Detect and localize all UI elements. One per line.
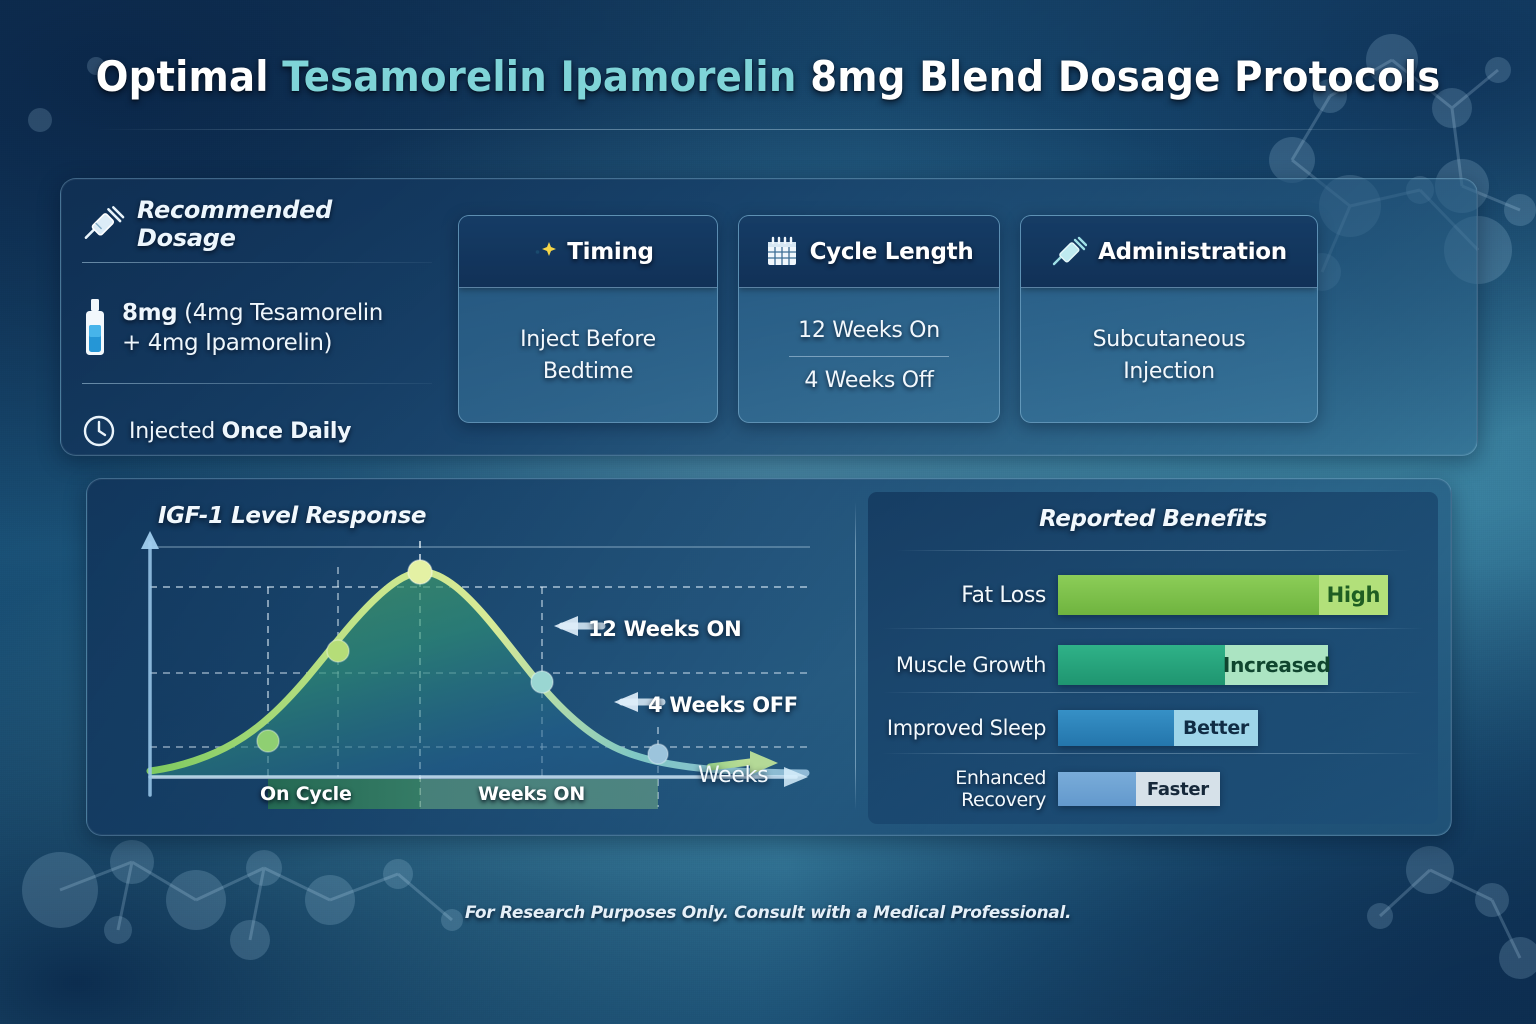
- card-administration-header: Administration: [1021, 216, 1317, 288]
- card-cycle-length-header: Cycle Length: [739, 216, 999, 288]
- syringe-icon: [82, 205, 125, 243]
- syringe-icon: [1051, 236, 1087, 268]
- data-point-marker: [648, 744, 668, 764]
- benefit-value-fat-loss: High: [1319, 575, 1388, 615]
- dosage-frequency-text: Injected Once Daily: [129, 419, 351, 444]
- benefit-bar-enhanced-recovery: Faster: [1058, 772, 1220, 806]
- recommended-dosage-block: Recommended Dosage 8mg (4mg Tesamorelin …: [82, 196, 432, 448]
- benefit-bar-fill: [1058, 710, 1174, 746]
- benefit-bar-fill: [1058, 772, 1136, 806]
- chart-annotation-weeks-off: 4 Weeks OFF: [648, 693, 798, 717]
- panel-vertical-divider: [855, 502, 856, 810]
- card-administration-line-2: Injection: [1123, 358, 1215, 386]
- benefit-value-muscle-growth: Increased: [1225, 645, 1328, 685]
- igf1-response-chart: IGF-1 Level Response: [110, 495, 850, 825]
- title-part-1: Optimal: [96, 52, 283, 101]
- card-cycle-length-line-1: 12 Weeks On: [798, 317, 940, 345]
- card-cycle-length-body: 12 Weeks On 4 Weeks Off: [739, 288, 999, 423]
- page-title: Optimal Tesamorelin Ipamorelin 8mg Blend…: [61, 52, 1474, 101]
- chart-area-fill: [150, 572, 806, 777]
- data-point-marker: [408, 560, 432, 584]
- title-divider: [95, 129, 1441, 130]
- card-timing[interactable]: Timing Inject Before Bedtime: [458, 215, 718, 423]
- card-cycle-length-title: Cycle Length: [810, 239, 974, 265]
- benefit-bar-muscle-growth: Increased: [1058, 645, 1328, 685]
- dosage-header-rule: [82, 262, 432, 263]
- chart-band-label-on-cycle: On Cycle: [260, 783, 352, 805]
- card-cycle-length[interactable]: Cycle Length 12 Weeks On 4 Weeks Off: [738, 215, 1000, 423]
- chart-x-axis-label: Weeks: [698, 763, 768, 788]
- benefit-value-enhanced-recovery: Faster: [1136, 772, 1220, 806]
- dosage-amount-bold: 8mg: [122, 300, 177, 326]
- reported-benefits-divider: [896, 550, 1410, 551]
- reported-benefits-title: Reported Benefits: [868, 506, 1438, 532]
- benefit-value-improved-sleep: Better: [1174, 710, 1258, 746]
- benefit-label-enhanced-recovery: Enhanced Recovery: [868, 767, 1058, 811]
- card-cycle-length-divider: [789, 356, 949, 357]
- data-point-marker: [531, 671, 553, 693]
- title-part-2: 8mg Blend Dosage Protocols: [797, 52, 1441, 101]
- card-timing-line-1: Inject Before: [520, 326, 656, 354]
- calendar-icon: [765, 236, 799, 268]
- benefit-row-separator: [882, 628, 1424, 629]
- card-administration[interactable]: Administration Subcutaneous Injection: [1020, 215, 1318, 423]
- dosage-amount-row: 8mg (4mg Tesamorelin + 4mg Ipamorelin): [82, 297, 432, 359]
- chart-annotation-weeks-on: 12 Weeks ON: [588, 617, 741, 641]
- card-timing-header: Timing: [459, 216, 717, 288]
- data-point-marker: [257, 730, 279, 752]
- benefit-label-muscle-growth: Muscle Growth: [868, 653, 1058, 677]
- recommended-dosage-header: Recommended Dosage: [82, 196, 432, 252]
- benefit-bar-fill: [1058, 575, 1319, 615]
- reported-benefits-section: Reported Benefits Fat Loss High Muscle G…: [868, 492, 1438, 824]
- card-timing-title: Timing: [567, 239, 653, 265]
- card-cycle-length-line-2: 4 Weeks Off: [804, 367, 933, 395]
- benefit-bar-improved-sleep: Better: [1058, 710, 1258, 746]
- y-axis-arrowhead: [141, 531, 159, 549]
- moon-star-icon: [522, 236, 556, 268]
- dosage-amount-rule: [82, 383, 432, 384]
- frequency-bold: Once Daily: [222, 419, 352, 444]
- benefit-bar-fat-loss: High: [1058, 575, 1388, 615]
- card-administration-line-1: Subcutaneous: [1093, 326, 1246, 354]
- dosage-frequency-row: Injected Once Daily: [82, 414, 432, 448]
- benefit-row-improved-sleep: Improved Sleep Better: [868, 697, 1438, 759]
- benefit-row-fat-loss: Fat Loss High: [868, 564, 1438, 626]
- card-administration-title: Administration: [1098, 239, 1287, 265]
- dosage-amount-line2: + 4mg Ipamorelin): [122, 328, 383, 358]
- chart-band-label-weeks-on: Weeks ON: [478, 783, 585, 805]
- frequency-prefix: Injected: [129, 419, 222, 444]
- dosage-amount-text: 8mg (4mg Tesamorelin + 4mg Ipamorelin): [122, 298, 383, 359]
- disclaimer-footer: For Research Purposes Only. Consult with…: [0, 903, 1536, 923]
- benefit-label-fat-loss: Fat Loss: [868, 583, 1058, 608]
- card-administration-body: Subcutaneous Injection: [1021, 288, 1317, 423]
- benefit-label-improved-sleep: Improved Sleep: [868, 716, 1058, 740]
- clock-icon: [82, 414, 116, 448]
- card-timing-body: Inject Before Bedtime: [459, 288, 717, 423]
- recommended-dosage-title: Recommended Dosage: [137, 196, 432, 252]
- title-accent-compound: Tesamorelin Ipamorelin: [282, 52, 796, 101]
- vial-icon: [82, 297, 108, 359]
- dosage-amount-rest: (4mg Tesamorelin: [177, 300, 383, 326]
- card-timing-line-2: Bedtime: [543, 358, 633, 386]
- benefit-bar-fill: [1058, 645, 1225, 685]
- data-point-marker: [327, 640, 349, 662]
- benefit-row-enhanced-recovery: Enhanced Recovery Faster: [868, 758, 1438, 820]
- benefit-row-muscle-growth: Muscle Growth Increased: [868, 634, 1438, 696]
